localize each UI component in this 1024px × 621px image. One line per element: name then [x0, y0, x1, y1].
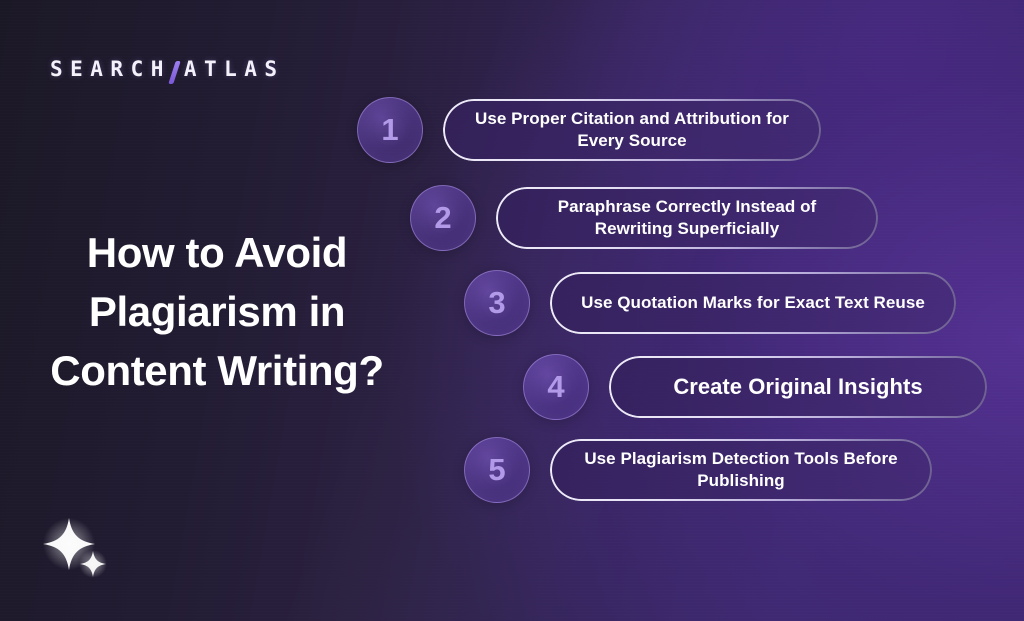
logo-text-search: SEARCH [50, 59, 171, 80]
sparkle-decoration [38, 515, 118, 590]
step-pill[interactable]: Use Proper Citation and Attribution for … [443, 99, 821, 161]
step-pill[interactable]: Use Plagiarism Detection Tools Before Pu… [550, 439, 932, 501]
step-label: Use Proper Citation and Attribution for … [469, 108, 795, 152]
step-label: Create Original Insights [673, 373, 922, 402]
step-label: Paraphrase Correctly Instead of Rewritin… [522, 196, 852, 240]
logo-text-atlas: ATLAS [184, 59, 285, 80]
step-pill[interactable]: Use Quotation Marks for Exact Text Reuse [550, 272, 956, 334]
list-item[interactable]: 1 Use Proper Citation and Attribution fo… [357, 92, 821, 168]
list-item[interactable]: 5 Use Plagiarism Detection Tools Before … [464, 432, 932, 508]
step-label: Use Quotation Marks for Exact Text Reuse [581, 292, 925, 314]
list-item[interactable]: 3 Use Quotation Marks for Exact Text Reu… [464, 265, 956, 341]
step-label: Use Plagiarism Detection Tools Before Pu… [576, 448, 906, 492]
sparkle-icon [38, 515, 118, 590]
step-number-badge: 2 [410, 185, 476, 251]
step-number-badge: 1 [357, 97, 423, 163]
step-number-badge: 4 [523, 354, 589, 420]
brand-logo: SEARCH ATLAS [50, 58, 285, 81]
step-number-badge: 5 [464, 437, 530, 503]
step-pill[interactable]: Create Original Insights [609, 356, 987, 418]
infographic-canvas: SEARCH ATLAS How to Avoid Plagiarism in … [0, 0, 1024, 621]
step-number-badge: 3 [464, 270, 530, 336]
list-item[interactable]: 4 Create Original Insights [523, 349, 987, 425]
list-item[interactable]: 2 Paraphrase Correctly Instead of Rewrit… [410, 180, 878, 256]
step-pill[interactable]: Paraphrase Correctly Instead of Rewritin… [496, 187, 878, 249]
page-title: How to Avoid Plagiarism in Content Writi… [47, 224, 387, 400]
